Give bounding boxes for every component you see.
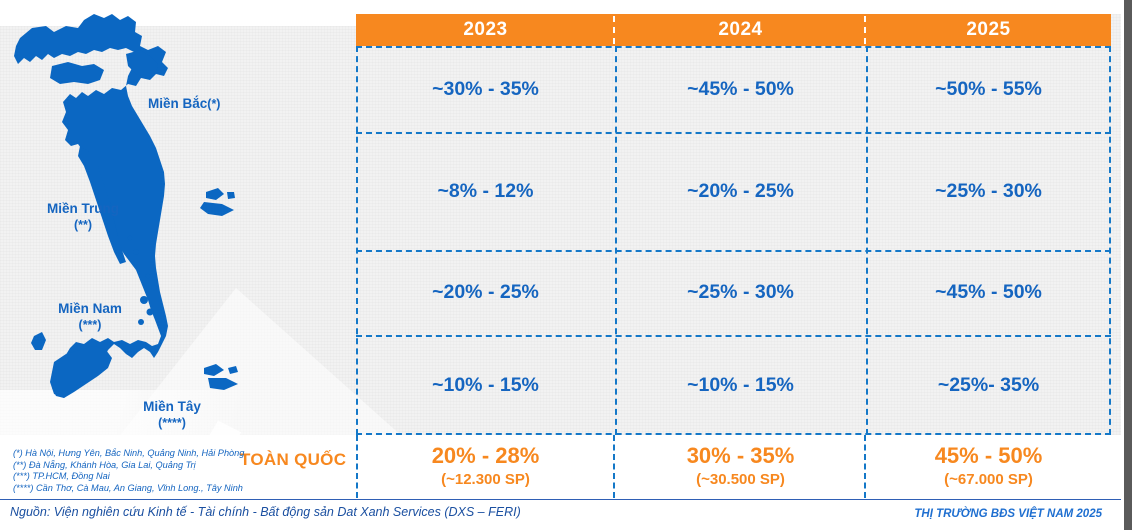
table-row: ~8% - 12% ~20% - 25% ~25% - 30% [356, 132, 1111, 250]
total-count: (~30.500 SP) [696, 470, 785, 490]
column-header-label: 2023 [463, 19, 507, 41]
region-marker: (****) [124, 415, 220, 432]
source-text: Nguồn: Viện nghiên cứu Kinh tế - Tài chí… [10, 505, 521, 519]
cell-mien-nam-2025: ~45% - 50% [866, 250, 1111, 335]
cell-mien-tay-2025: ~25%- 35% [866, 335, 1111, 435]
source-divider [0, 499, 1121, 500]
region-name: Miền Bắc [148, 96, 207, 111]
region-label-mien-tay: Miền Tây (****) [124, 398, 220, 432]
column-header-label: 2024 [718, 19, 762, 41]
cell-mien-tay-2023: ~10% - 15% [356, 335, 615, 435]
grid-line-horizontal [356, 250, 1111, 252]
region-marker: (**) [28, 217, 138, 234]
region-label-mien-trung: Miền Trung (**) [28, 200, 138, 234]
footnote-line: (***) TP.HCM, Đồng Nai [13, 471, 244, 483]
cell-mien-trung-2023: ~8% - 12% [356, 132, 615, 250]
region-name: Miền Trung [47, 201, 119, 216]
total-range: 20% - 28% [432, 443, 540, 469]
grid-line-vertical [356, 46, 358, 435]
cell-mien-bac-2024: ~45% - 50% [615, 46, 866, 132]
absorption-rate-table: 2023 2024 2025 ~30% - 35% ~45% - 50% ~50… [356, 14, 1111, 498]
total-cell-2023: 20% - 28% (~12.300 SP) [356, 435, 615, 498]
cell-mien-trung-2024: ~20% - 25% [615, 132, 866, 250]
region-label-mien-bac: Miền Bắc(*) [148, 95, 220, 113]
cell-mien-bac-2025: ~50% - 55% [866, 46, 1111, 132]
cell-mien-nam-2024: ~25% - 30% [615, 250, 866, 335]
total-divider [356, 435, 358, 498]
footnotes-block: (*) Hà Nội, Hưng Yên, Bắc Ninh, Quảng Ni… [13, 448, 244, 494]
column-header-2025: 2025 [866, 14, 1111, 46]
right-edge-strip [1124, 0, 1132, 530]
cell-mien-trung-2025: ~25% - 30% [866, 132, 1111, 250]
table-body: ~30% - 35% ~45% - 50% ~50% - 55% ~8% - 1… [356, 46, 1111, 435]
region-marker: (***) [38, 317, 142, 334]
grid-line-vertical [866, 46, 868, 435]
total-cell-2024: 30% - 35% (~30.500 SP) [615, 435, 866, 498]
truong-sa-islands [204, 364, 238, 390]
footnote-line: (*) Hà Nội, Hưng Yên, Bắc Ninh, Quảng Ni… [13, 448, 244, 460]
footnote-line: (****) Cần Thơ, Cà Mau, An Giang, Vĩnh L… [13, 483, 244, 495]
table-row: ~20% - 25% ~25% - 30% ~45% - 50% [356, 250, 1111, 335]
total-range: 30% - 35% [687, 443, 795, 469]
grid-line-vertical [615, 46, 617, 435]
region-marker: (*) [207, 97, 220, 111]
grid-line-horizontal [356, 46, 1111, 48]
total-count: (~67.000 SP) [944, 470, 1033, 490]
cell-mien-nam-2023: ~20% - 25% [356, 250, 615, 335]
total-row-label: TOÀN QUỐC [240, 450, 346, 470]
region-label-mien-nam: Miền Nam (***) [38, 300, 142, 334]
cell-mien-tay-2024: ~10% - 15% [615, 335, 866, 435]
grid-line-horizontal [356, 335, 1111, 337]
grid-line-horizontal [356, 132, 1111, 134]
grid-line-vertical [1109, 46, 1111, 435]
report-title: THỊ TRƯỜNG BĐS VIỆT NAM 2025 [914, 508, 1102, 520]
hoang-sa-islands [200, 188, 235, 216]
total-range: 45% - 50% [935, 443, 1043, 469]
slide-root: Miền Bắc(*) Miền Trung (**) Miền Nam (**… [0, 0, 1132, 530]
table-header-row: 2023 2024 2025 [356, 14, 1111, 46]
region-name: Miền Tây [143, 399, 201, 414]
column-header-2024: 2024 [615, 14, 866, 46]
cell-mien-bac-2023: ~30% - 35% [356, 46, 615, 132]
total-row: 20% - 28% (~12.300 SP) 30% - 35% (~30.50… [356, 435, 1111, 498]
table-row: ~30% - 35% ~45% - 50% ~50% - 55% [356, 46, 1111, 132]
total-cell-2025: 45% - 50% (~67.000 SP) [866, 435, 1111, 498]
total-count: (~12.300 SP) [441, 470, 530, 490]
column-header-2023: 2023 [356, 14, 615, 46]
footnote-line: (**) Đà Nẵng, Khánh Hòa, Gia Lai, Quảng … [13, 460, 244, 472]
region-name: Miền Nam [58, 301, 122, 316]
column-header-label: 2025 [966, 19, 1010, 41]
table-row: ~10% - 15% ~10% - 15% ~25%- 35% [356, 335, 1111, 435]
